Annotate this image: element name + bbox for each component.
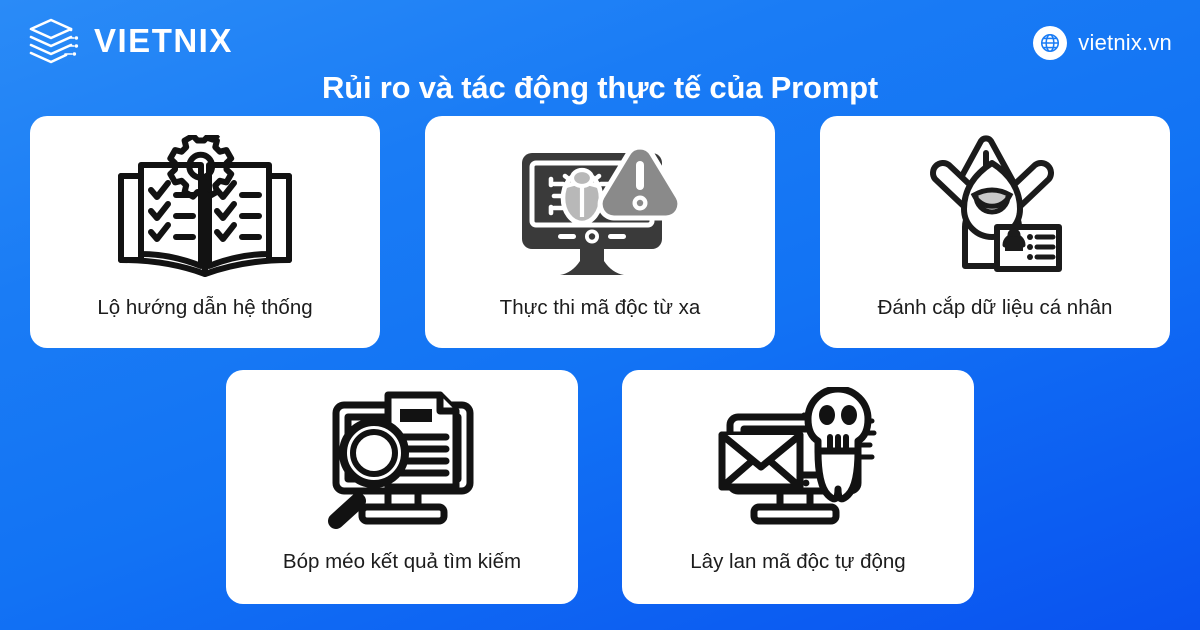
hacker-id-card-warning-icon [897,134,1093,284]
brand-logo[interactable]: VIETNIX [28,16,233,66]
risk-card-system-prompt-leak[interactable]: Lộ hướng dẫn hệ thống [30,116,380,348]
globe-icon [1033,26,1067,60]
monitor-envelope-skull-worm-icon [700,386,896,536]
risk-card-label: Lây lan mã độc tự động [680,550,915,575]
monitor-document-magnifier-icon [304,386,500,536]
risk-card-label: Bóp méo kết quả tìm kiếm [273,550,531,575]
infographic-canvas: VIETNIX vietnix.vn Rủi ro và tác động th… [0,0,1200,630]
risk-card-label: Thực thi mã độc từ xa [490,296,711,321]
stacked-layers-icon [28,16,82,66]
website-url-text: vietnix.vn [1078,30,1172,56]
risk-card-automated-malware-spread[interactable]: Lây lan mã độc tự động [622,370,974,604]
risk-card-personal-data-theft[interactable]: Đánh cắp dữ liệu cá nhân [820,116,1170,348]
risk-card-label: Lộ hướng dẫn hệ thống [87,296,322,321]
monitor-bug-warning-icon [502,134,698,284]
brand-name: VIETNIX [94,22,233,60]
book-checklist-gear-icon [107,134,303,284]
risk-card-label: Đánh cắp dữ liệu cá nhân [868,296,1123,321]
website-link[interactable]: vietnix.vn [1033,26,1172,60]
risk-card-remote-code-execution[interactable]: Thực thi mã độc từ xa [425,116,775,348]
page-title: Rủi ro và tác động thực tế của Prompt [0,70,1200,106]
risk-card-search-result-manipulation[interactable]: Bóp méo kết quả tìm kiếm [226,370,578,604]
